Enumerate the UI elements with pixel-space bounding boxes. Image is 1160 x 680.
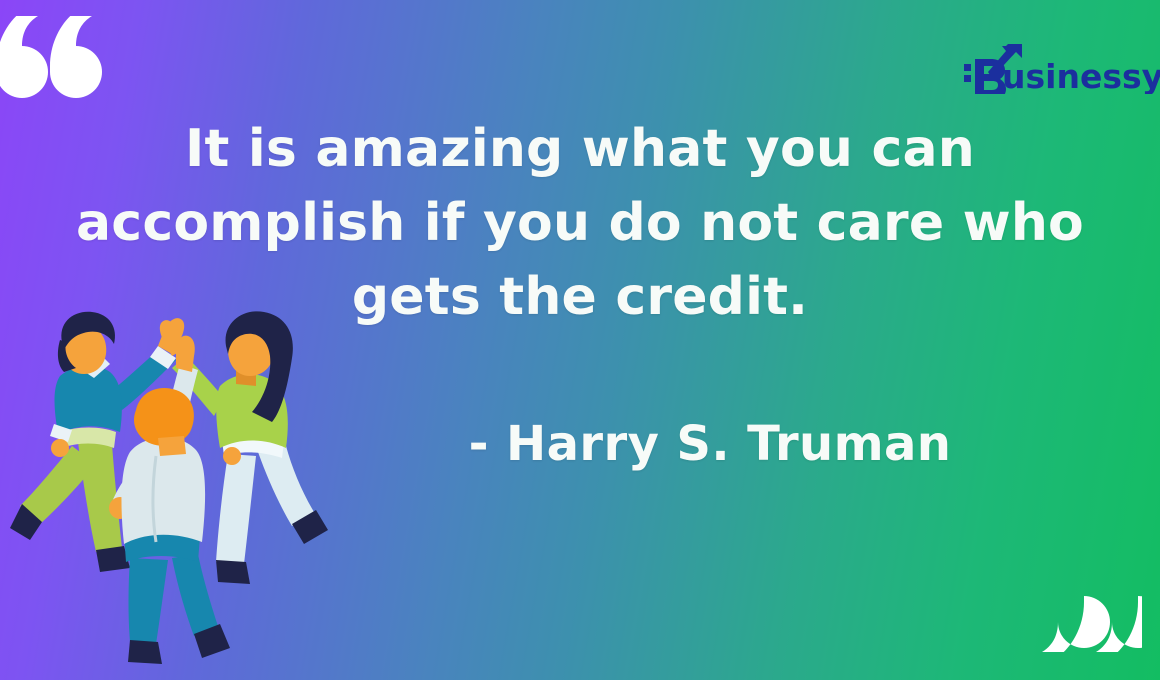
close-quote-mark-icon [1032, 556, 1142, 652]
logo-wordmark: usinessyield [1002, 57, 1160, 94]
logo-bars [964, 64, 971, 82]
quote-line-1: It is amazing what you can [60, 112, 1100, 186]
quote-card: usinessyield It is amazing what you can … [0, 0, 1160, 680]
businessyield-logo[interactable]: usinessyield [962, 42, 1160, 94]
open-quote-mark-icon [0, 16, 104, 112]
quote-attribution: - Harry S. Truman [360, 412, 1060, 476]
quote-text: It is amazing what you can accomplish if… [60, 112, 1100, 334]
quote-line-2: accomplish if you do not care who [60, 186, 1100, 260]
three-people-high-five-illustration [0, 306, 330, 680]
